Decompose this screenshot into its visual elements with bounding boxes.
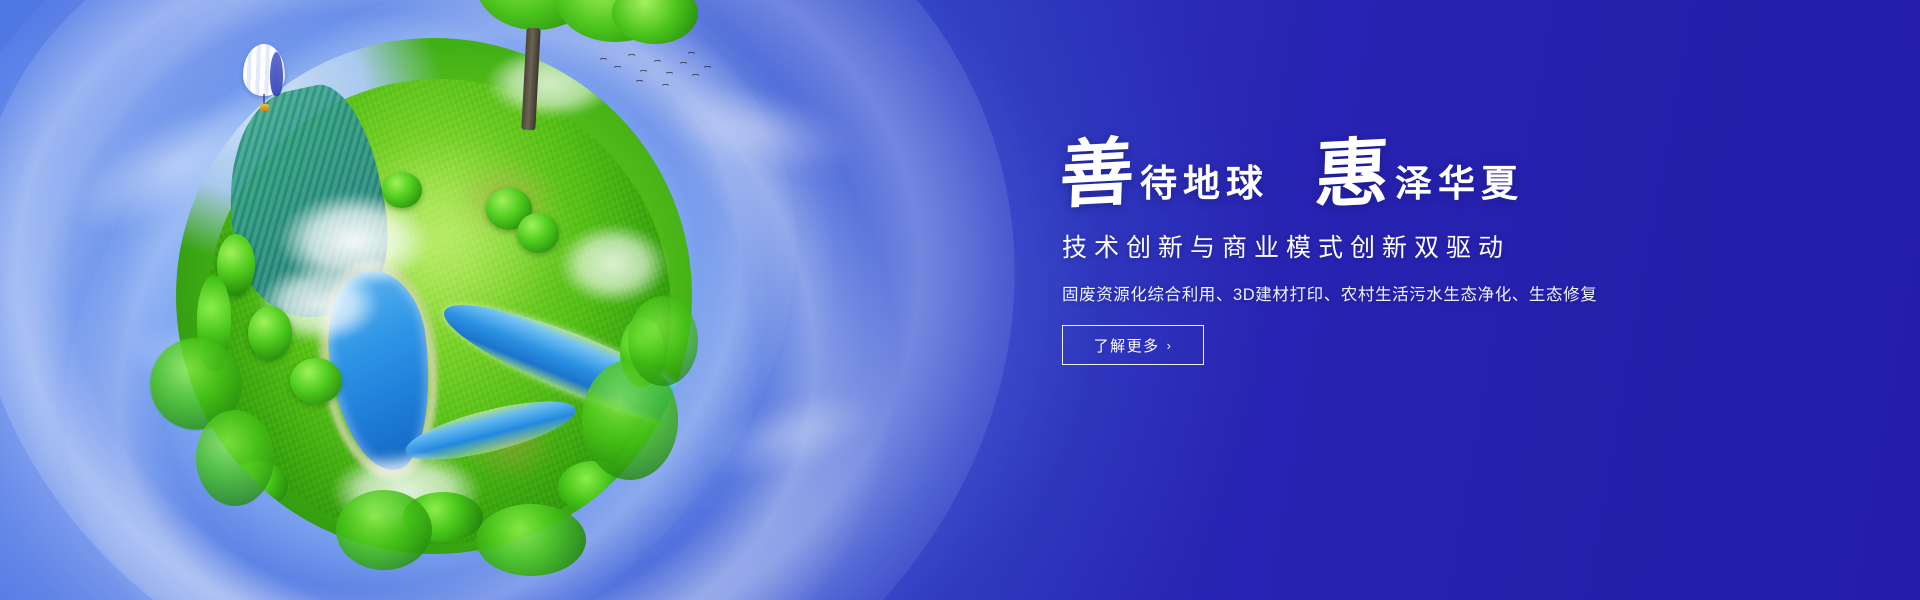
- headline: 善 待地球 惠 泽华夏: [1060, 140, 1760, 208]
- chevron-right-icon: ›: [1167, 339, 1173, 352]
- headline-brush-char-1: 善: [1059, 138, 1138, 210]
- top-tree: [448, 0, 698, 130]
- balloon-stripe: [270, 52, 283, 96]
- hot-air-balloon: [243, 44, 285, 116]
- foreground-tree: [476, 504, 586, 576]
- learn-more-button[interactable]: 了解更多 ›: [1062, 325, 1204, 365]
- learn-more-label: 了解更多: [1094, 335, 1160, 356]
- hero-banner: 善 待地球 惠 泽华夏 技术创新与商业模式创新双驱动 固废资源化综合利用、3D建…: [0, 0, 1920, 600]
- headline-brush-char-2: 惠: [1314, 138, 1393, 210]
- subtitle: 技术创新与商业模式创新双驱动: [1062, 228, 1760, 264]
- globe-tree-cluster: [517, 213, 559, 253]
- tree-trunk: [521, 28, 540, 131]
- hero-copy: 善 待地球 惠 泽华夏 技术创新与商业模式创新双驱动 固废资源化综合利用、3D建…: [1060, 140, 1760, 365]
- headline-rest-1: 待地球: [1140, 165, 1269, 208]
- foreground-tree: [196, 410, 274, 506]
- globe-tree-cluster: [290, 358, 342, 404]
- foreground-tree: [628, 296, 698, 386]
- cloud-wisp: [694, 374, 887, 496]
- foreground-tree: [336, 490, 432, 570]
- description: 固废资源化综合利用、3D建材打印、农村生活污水生态净化、生态修复: [1062, 281, 1760, 305]
- balloon-basket: [260, 104, 269, 111]
- headline-rest-2: 泽华夏: [1395, 165, 1524, 208]
- globe-cloud: [558, 224, 668, 304]
